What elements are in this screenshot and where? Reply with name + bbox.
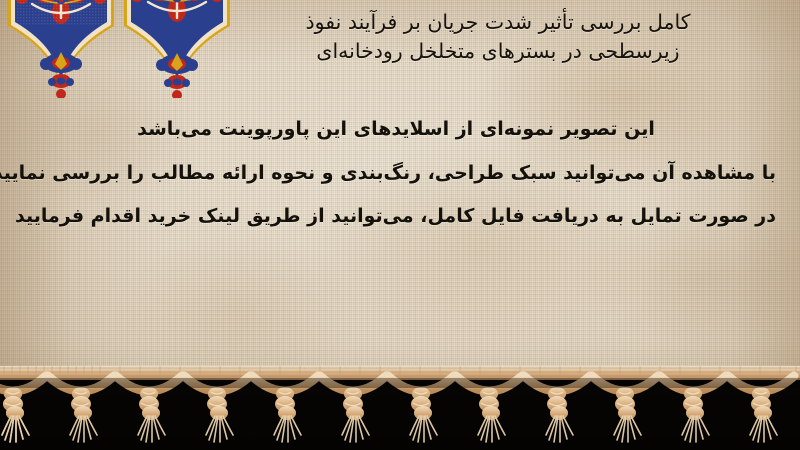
body-line-3: در صورت تمایل به دریافت فایل کامل، می‌تو… <box>16 195 776 239</box>
medallion-pendant-drop <box>40 52 82 98</box>
persian-carpet-medallion-icon <box>118 0 236 98</box>
persian-carpet-medallion-icon <box>2 0 120 98</box>
medallion-pendant-drop <box>156 53 198 98</box>
carpet-medallion-group <box>0 0 250 110</box>
carpet-fringe-zone <box>0 350 800 450</box>
slide-title-line-2: زیرسطحی در بسترهای متخلخل رودخانه‌ای <box>228 37 768 66</box>
body-line-1: این تصویر نمونه‌ای از اسلایدهای این پاور… <box>16 108 776 152</box>
slide-body: این تصویر نمونه‌ای از اسلایدهای این پاور… <box>16 108 776 239</box>
body-line-2: با مشاهده آن می‌توانید سبک طراحی، رنگ‌بن… <box>16 152 776 196</box>
presentation-slide: کامل بررسی تأثیر شدت جریان بر فرآیند نفو… <box>0 0 800 450</box>
slide-title-line-1: کامل بررسی تأثیر شدت جریان بر فرآیند نفو… <box>228 8 768 37</box>
slide-title: کامل بررسی تأثیر شدت جریان بر فرآیند نفو… <box>228 8 768 66</box>
knotted-tassel-fringe-icon <box>0 350 800 450</box>
